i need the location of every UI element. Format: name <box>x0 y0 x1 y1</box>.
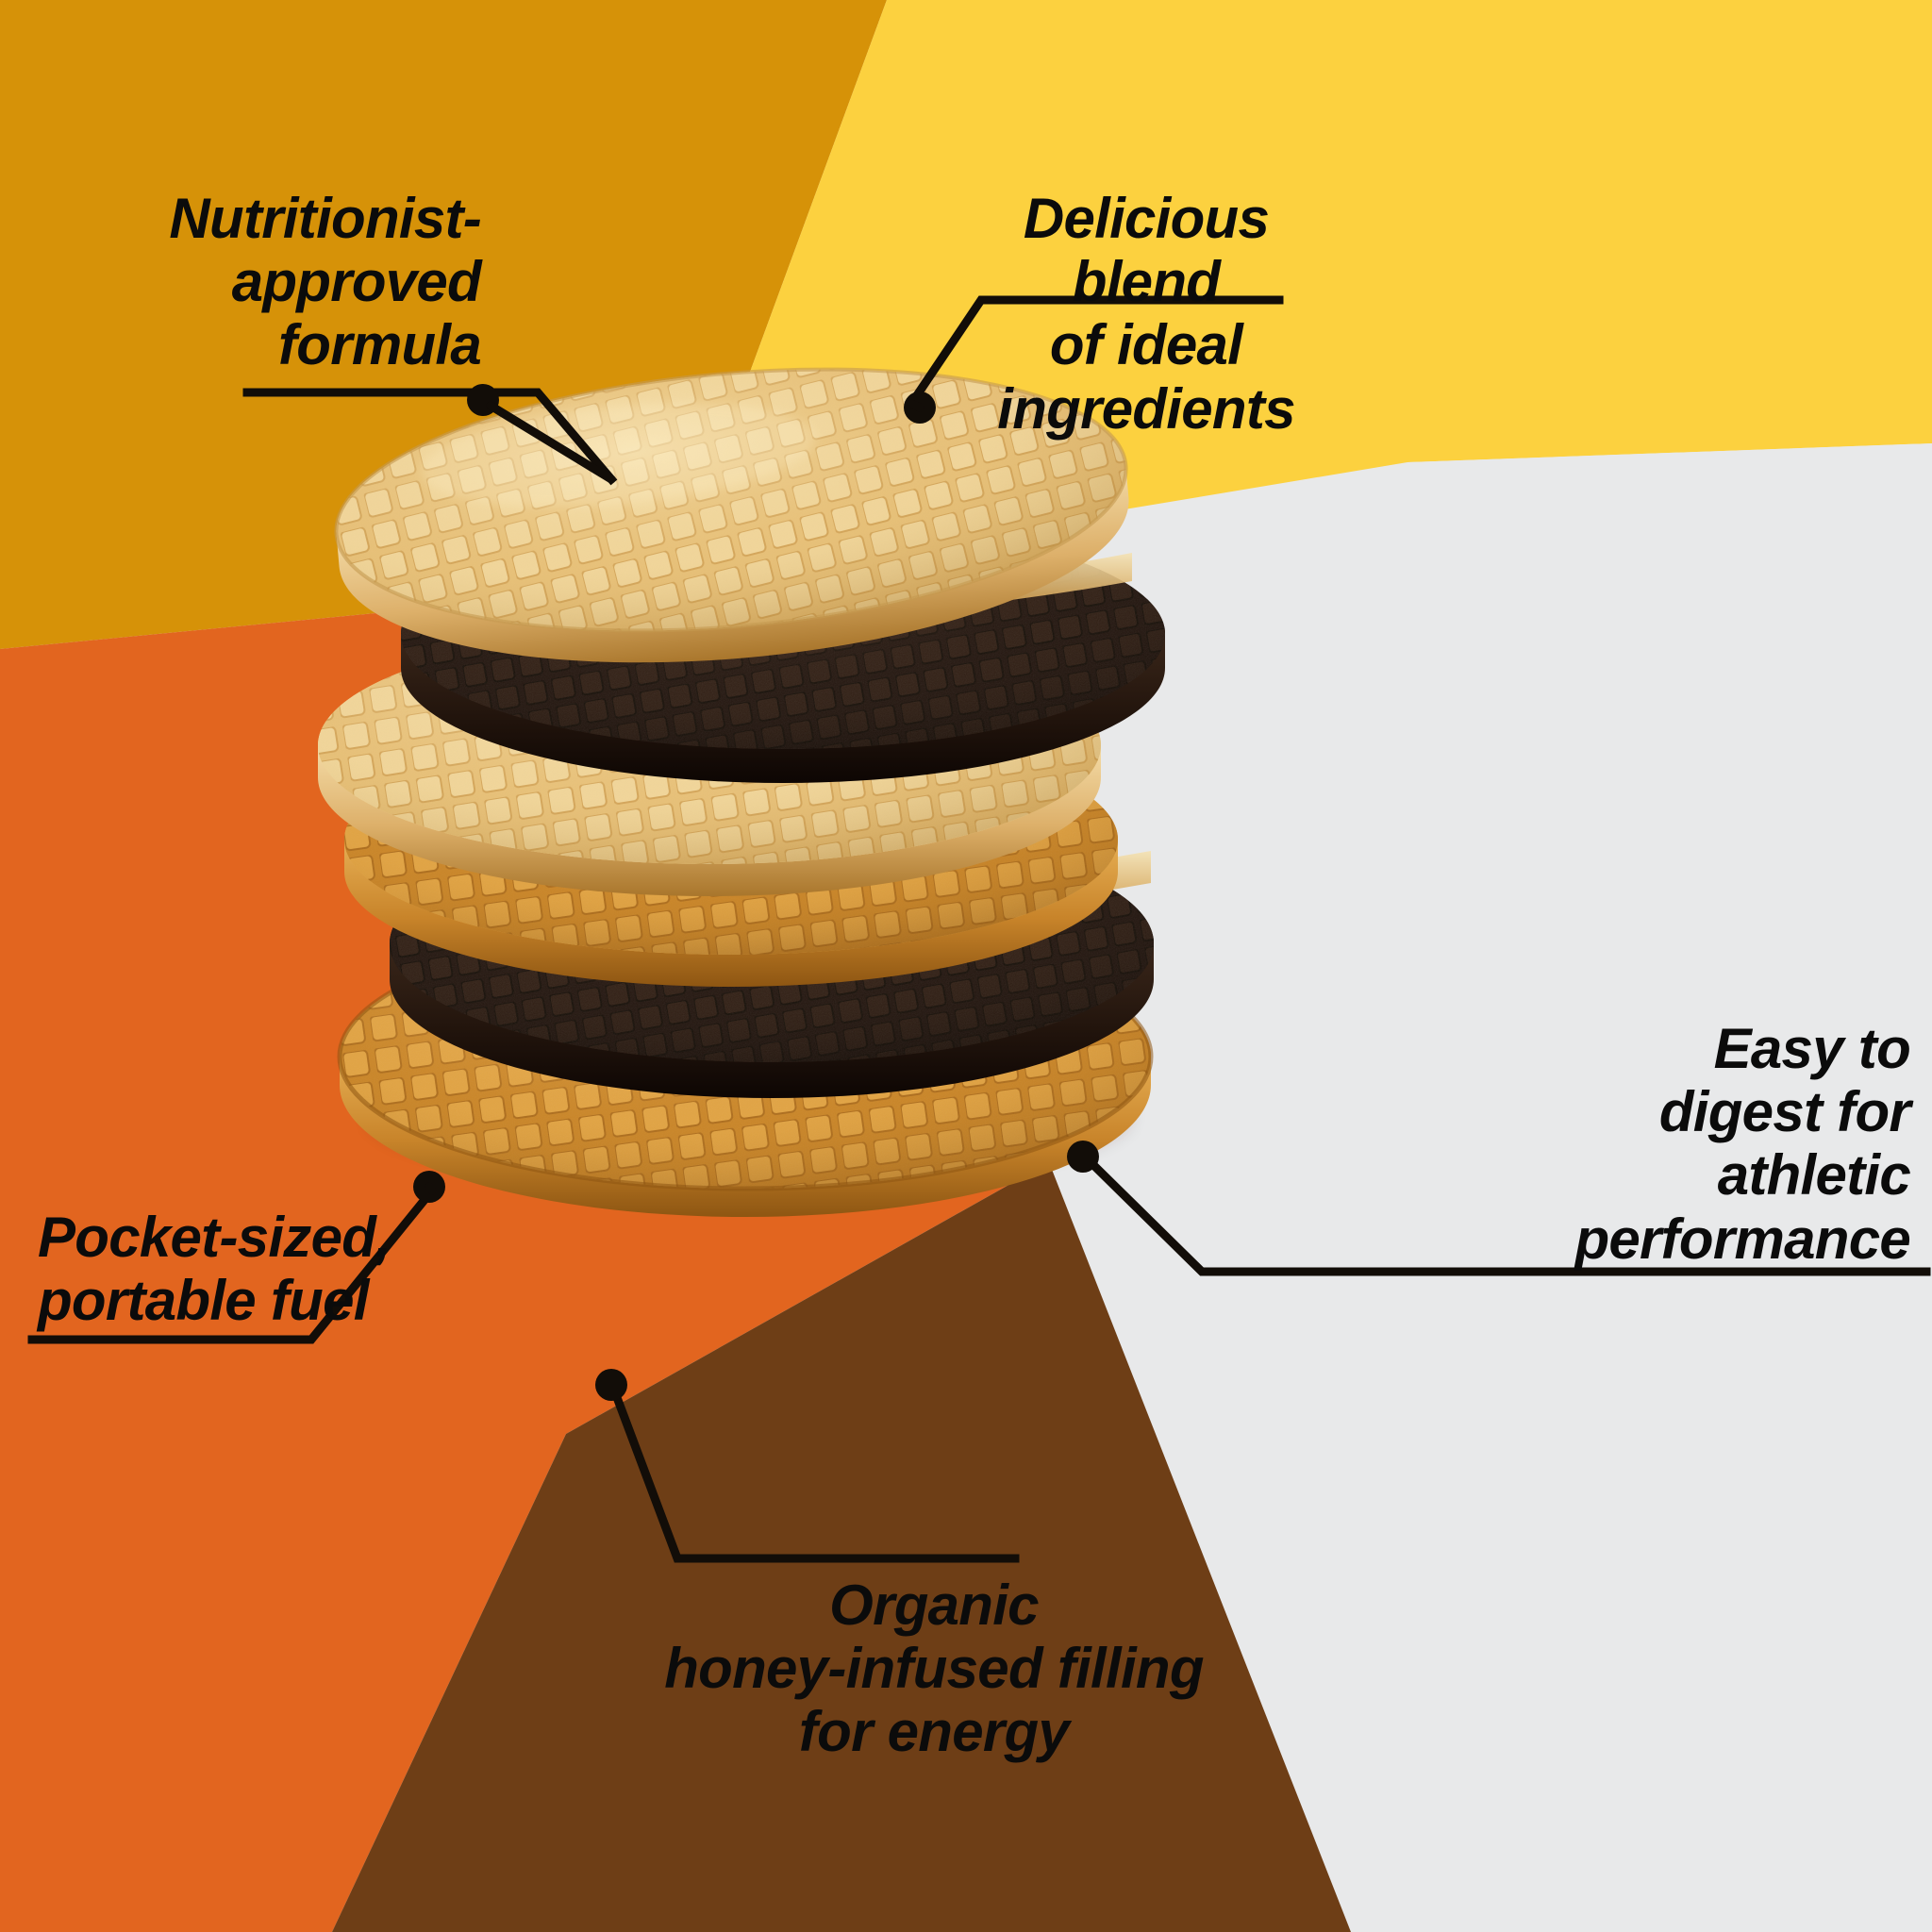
infographic-canvas: Nutritionist- approved formula Delicious… <box>0 0 1932 1932</box>
leader-stub-pocket <box>429 1187 432 1191</box>
leader-line-organic <box>615 1392 1015 1558</box>
callout-text-nutritionist: Nutritionist- approved formula <box>142 187 481 377</box>
callout-text-pocket-sized: Pocket-sized, portable fuel <box>38 1206 434 1332</box>
leader-stub-nutritionist <box>491 406 611 479</box>
leader-stub-delicious <box>911 404 920 408</box>
callout-text-delicious: Delicious blend of ideal ingredients <box>958 187 1335 441</box>
leader-dot-easy <box>1067 1141 1099 1173</box>
callout-text-organic-honey: Organic honey-infused filling for energy <box>660 1574 1207 1764</box>
leader-dot-organic <box>595 1369 627 1401</box>
leader-line-nutritionist <box>247 392 611 479</box>
callout-text-easy-digest: Easy to digest for athletic performance <box>1533 1017 1910 1271</box>
